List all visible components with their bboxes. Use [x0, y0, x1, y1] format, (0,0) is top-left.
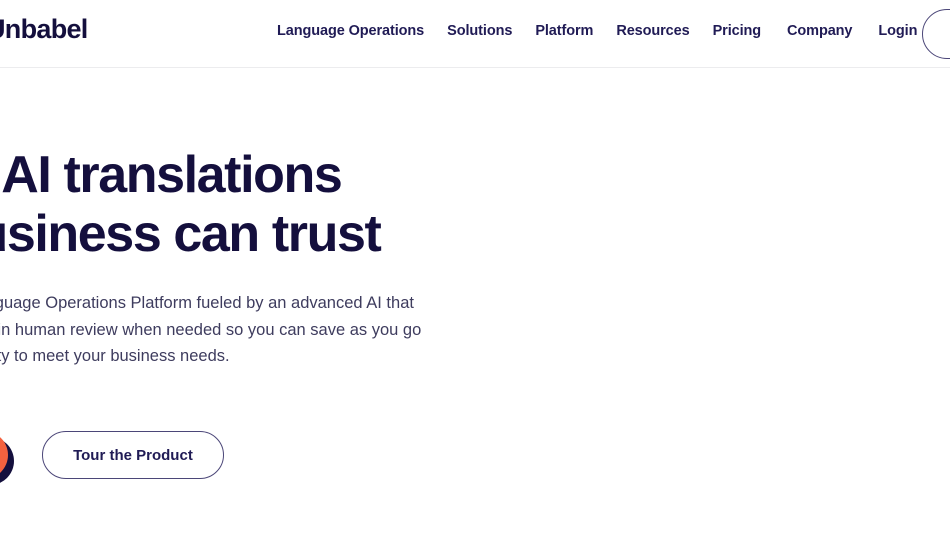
hero-paragraph: Unbabel is the first Language Operations…	[0, 290, 446, 370]
unbabel-logo[interactable]: Unbabel	[0, 16, 88, 43]
tour-the-product-button[interactable]: Tour the Product	[42, 431, 224, 479]
hero-headline-line-1: Finally, AI translations	[0, 146, 341, 204]
nav-item-company[interactable]: Company	[787, 21, 852, 41]
site-header: Unbabel Language Operations Solutions Pl…	[0, 0, 950, 68]
header-get-started-button[interactable]: Get Started	[922, 9, 950, 59]
main-navigation: Language Operations Solutions Platform R…	[277, 21, 917, 41]
primary-button-wrapper: Talk to an expert	[0, 431, 8, 479]
nav-item-pricing[interactable]: Pricing	[713, 21, 761, 41]
nav-item-login[interactable]: Login	[878, 21, 917, 41]
hero-headline-line-2: your business can trust	[0, 205, 380, 263]
hero-headline: Finally, AI translations your business c…	[0, 146, 526, 264]
nav-item-platform[interactable]: Platform	[535, 21, 593, 41]
page-viewport: Unbabel Language Operations Solutions Pl…	[0, 0, 950, 534]
hero-button-group: Talk to an expert Tour the Product	[0, 431, 224, 479]
hero-section: Finally, AI translations your business c…	[0, 68, 950, 534]
nav-item-solutions[interactable]: Solutions	[447, 21, 512, 41]
nav-item-resources[interactable]: Resources	[616, 21, 689, 41]
nav-item-language-operations[interactable]: Language Operations	[277, 21, 424, 41]
